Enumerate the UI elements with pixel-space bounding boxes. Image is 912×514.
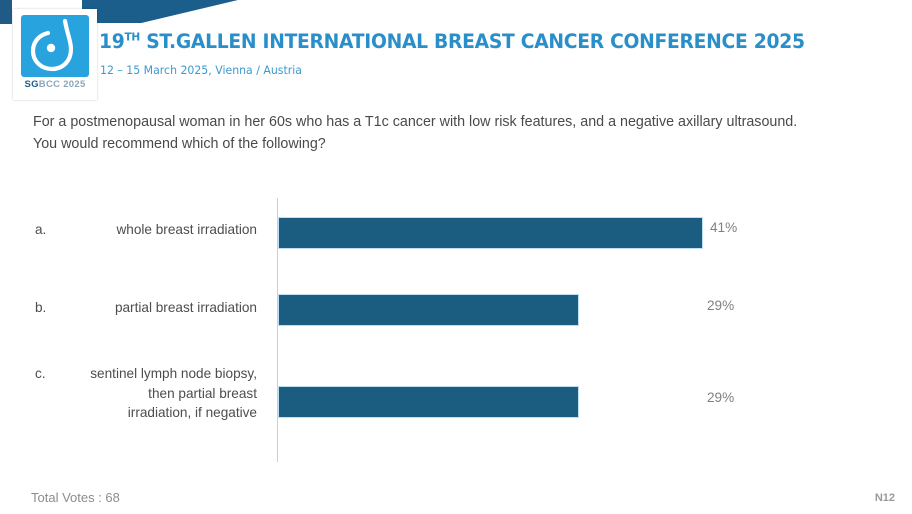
poll-results-bar-chart: a. whole breast irradiation 41% b. parti… xyxy=(0,186,912,466)
chart-marker-b: b. xyxy=(35,298,51,318)
chart-label-c-line-2: irradiation, if negative xyxy=(7,403,257,423)
logo-caption-sg: SG xyxy=(24,79,38,90)
chart-marker-a: a. xyxy=(35,220,51,240)
conference-dates-location: 12 – 15 March 2025, Vienna / Austria xyxy=(100,63,302,77)
chart-row-b: b. partial breast irradiation 29% xyxy=(0,272,912,327)
total-votes-label: Total Votes : 68 xyxy=(31,490,120,505)
conference-title: 19TH ST.GALLEN INTERNATIONAL BREAST CANC… xyxy=(99,30,805,53)
sgbcc-logo: SGBCC 2025 xyxy=(13,9,97,100)
chart-value-a: 41% xyxy=(710,220,737,235)
header-wedge-shape xyxy=(82,0,238,23)
chart-label-a: a. whole breast irradiation xyxy=(7,220,257,240)
chart-label-b: b. partial breast irradiation xyxy=(7,298,257,318)
sgbcc-logo-mark-icon xyxy=(21,15,89,77)
chart-marker-c: c. xyxy=(35,364,51,384)
poll-question-text: For a postmenopausal woman in her 60s wh… xyxy=(33,111,803,155)
sgbcc-logo-caption: SGBCC 2025 xyxy=(13,79,97,90)
header-left-accent-block xyxy=(0,0,12,24)
title-main-text: ST.GALLEN INTERNATIONAL BREAST CANCER CO… xyxy=(140,30,805,53)
chart-bar-b xyxy=(278,294,579,326)
logo-caption-rest: BCC 2025 xyxy=(39,79,86,90)
chart-label-c: c. sentinel lymph node biopsy, then part… xyxy=(7,364,257,423)
chart-row-a: a. whole breast irradiation 41% xyxy=(0,186,912,241)
chart-value-b: 29% xyxy=(707,298,734,313)
title-ordinal-suffix: TH xyxy=(124,31,139,44)
conference-header: SGBCC 2025 19TH ST.GALLEN INTERNATIONAL … xyxy=(0,0,912,104)
slide-code-label: N12 xyxy=(875,492,895,504)
chart-bar-c xyxy=(278,386,579,418)
chart-value-c: 29% xyxy=(707,390,734,405)
chart-label-c-line-1: then partial breast xyxy=(7,384,257,404)
chart-row-c: c. sentinel lymph node biopsy, then part… xyxy=(0,364,912,444)
title-number: 19 xyxy=(99,30,124,53)
chart-bar-a xyxy=(278,217,703,249)
